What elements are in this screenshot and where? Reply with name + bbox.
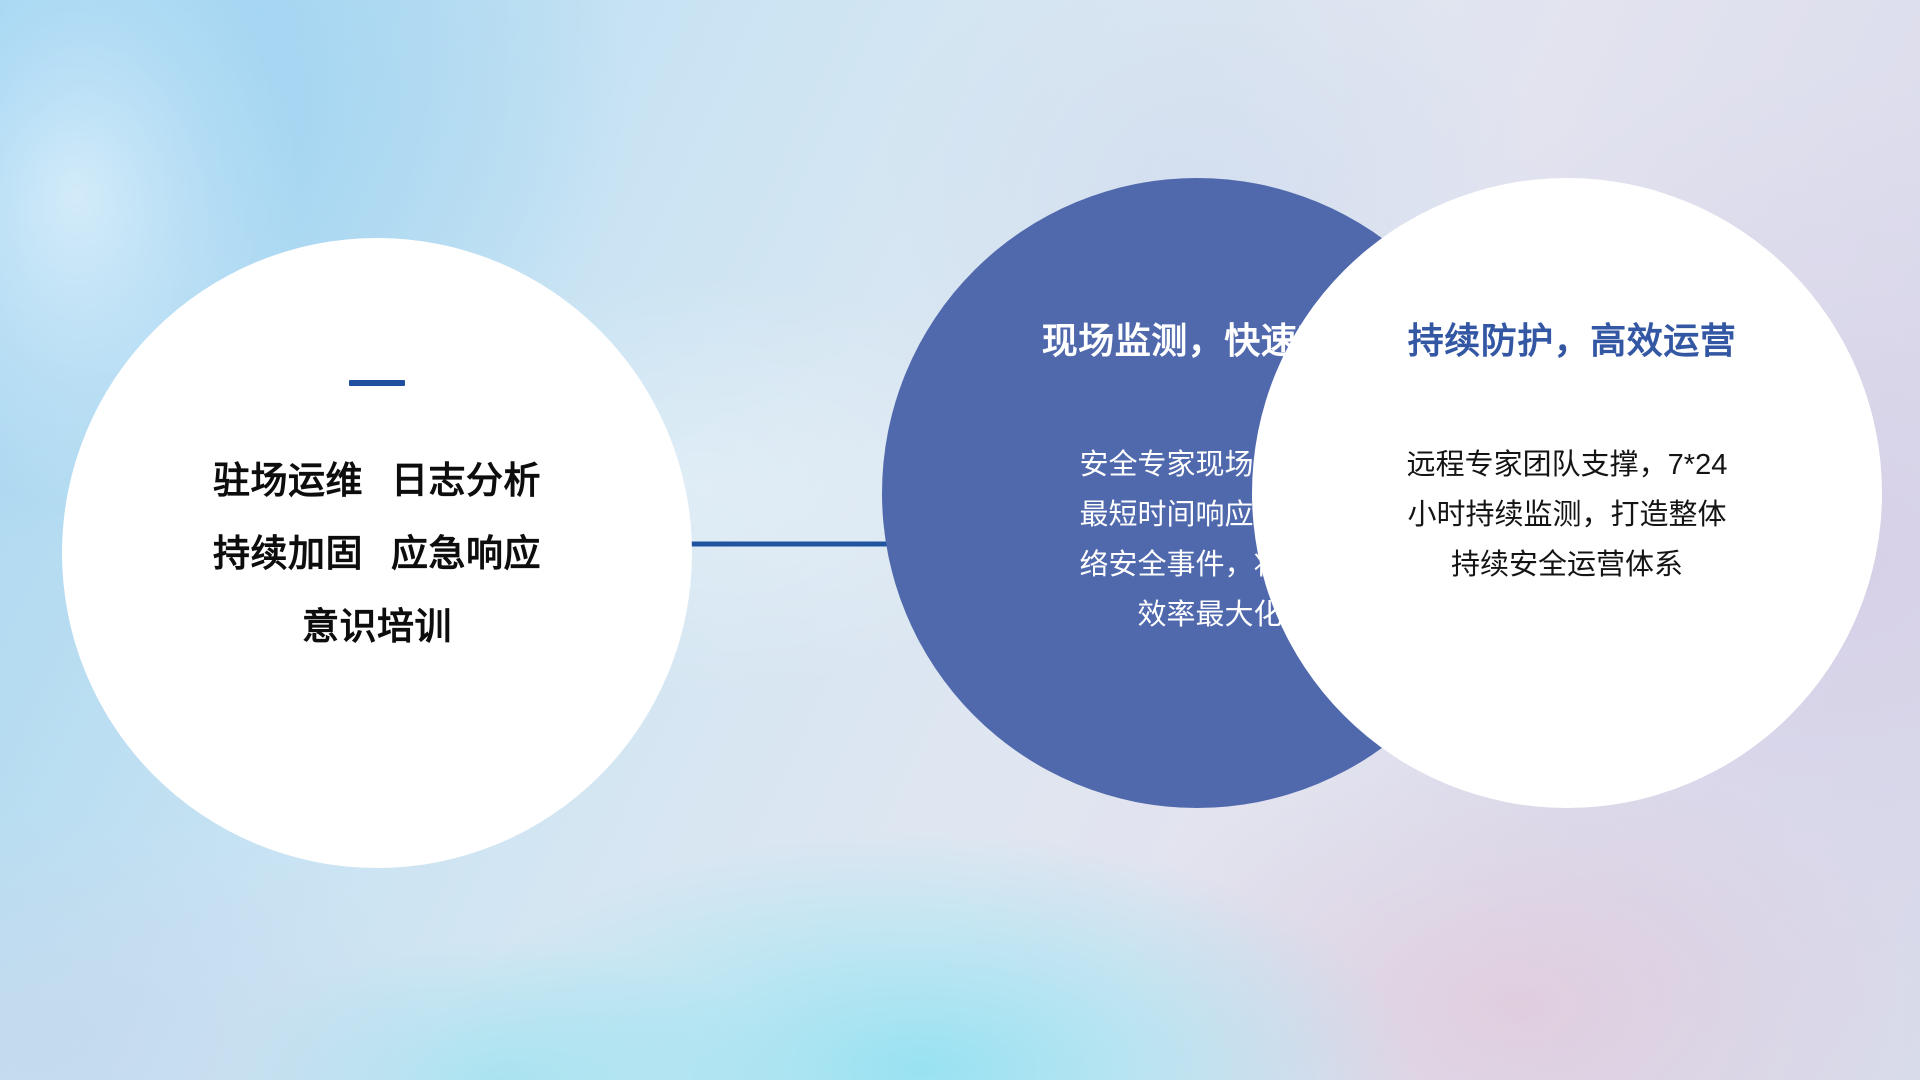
body-line: 小时持续监测，打造整体 [1352, 490, 1782, 540]
capability-circle-right[interactable]: 持续防护，高效运营 远程专家团队支撑，7*24 小时持续监测，打造整体 持续安全… [1252, 178, 1882, 808]
keyword-item: 日志分析 [391, 460, 541, 501]
body-line: 持续安全运营体系 [1352, 540, 1782, 590]
keyword-item: 持续加固 [213, 533, 363, 574]
keyword-row: 驻场运维日志分析 [213, 444, 541, 517]
right-circle-body: 远程专家团队支撑，7*24 小时持续监测，打造整体 持续安全运营体系 [1352, 440, 1782, 590]
accent-dash-icon [349, 380, 405, 386]
capability-circle-left[interactable]: 驻场运维日志分析 持续加固应急响应 意识培训 [62, 238, 692, 868]
keyword-item: 应急响应 [391, 533, 541, 574]
keyword-item: 驻场运维 [213, 460, 363, 501]
keyword-item: 意识培训 [302, 606, 452, 647]
keyword-row: 持续加固应急响应 [213, 517, 541, 590]
body-line: 远程专家团队支撑，7*24 [1352, 440, 1782, 490]
right-circle-title: 持续防护，高效运营 [1408, 318, 1737, 364]
keyword-row: 意识培训 [213, 590, 541, 663]
capability-keyword-list: 驻场运维日志分析 持续加固应急响应 意识培训 [213, 444, 541, 663]
right-circle-content: 持续防护，高效运营 远程专家团队支撑，7*24 小时持续监测，打造整体 持续安全… [1252, 178, 1882, 808]
slide-canvas: 驻场运维日志分析 持续加固应急响应 意识培训 现场监测，快速响应 安全专家现场保… [0, 0, 1920, 1080]
left-circle-content: 驻场运维日志分析 持续加固应急响应 意识培训 [62, 238, 692, 868]
